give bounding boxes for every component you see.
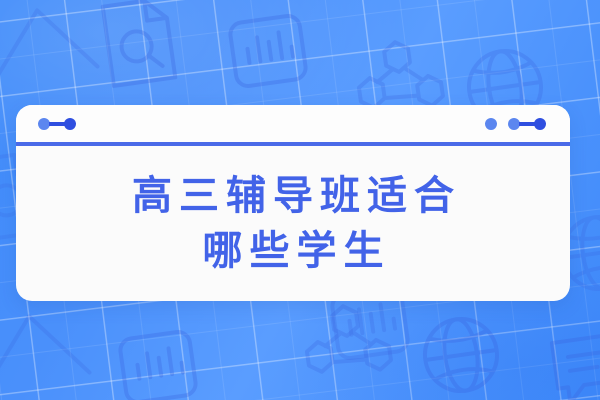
chevron-icon	[0, 288, 101, 400]
header-dots-right	[485, 118, 546, 130]
dot-connector	[519, 122, 535, 126]
promo-banner: 高三辅导班适合 哪些学生	[0, 0, 600, 400]
bar-chart-icon	[113, 325, 203, 400]
dot-solid	[64, 118, 76, 130]
dot-connector	[49, 122, 65, 126]
globe-icon	[412, 306, 509, 400]
bar-chart-icon	[223, 9, 313, 93]
browser-window-card: 高三辅导班适合 哪些学生	[16, 105, 570, 301]
document-search-icon	[90, 0, 188, 94]
chat-bubble-icon	[543, 325, 600, 400]
page-title-line-1: 高三辅导班适合	[125, 172, 461, 221]
card-body: 高三辅导班适合 哪些学生	[16, 146, 570, 301]
page-title-line-2: 哪些学生	[196, 227, 391, 276]
header-dots-left	[38, 118, 76, 130]
dot-solid	[534, 118, 546, 130]
card-header	[16, 105, 570, 142]
link-dots-icon	[508, 118, 546, 130]
dot-pale	[485, 118, 497, 130]
link-dots-icon	[38, 118, 76, 130]
